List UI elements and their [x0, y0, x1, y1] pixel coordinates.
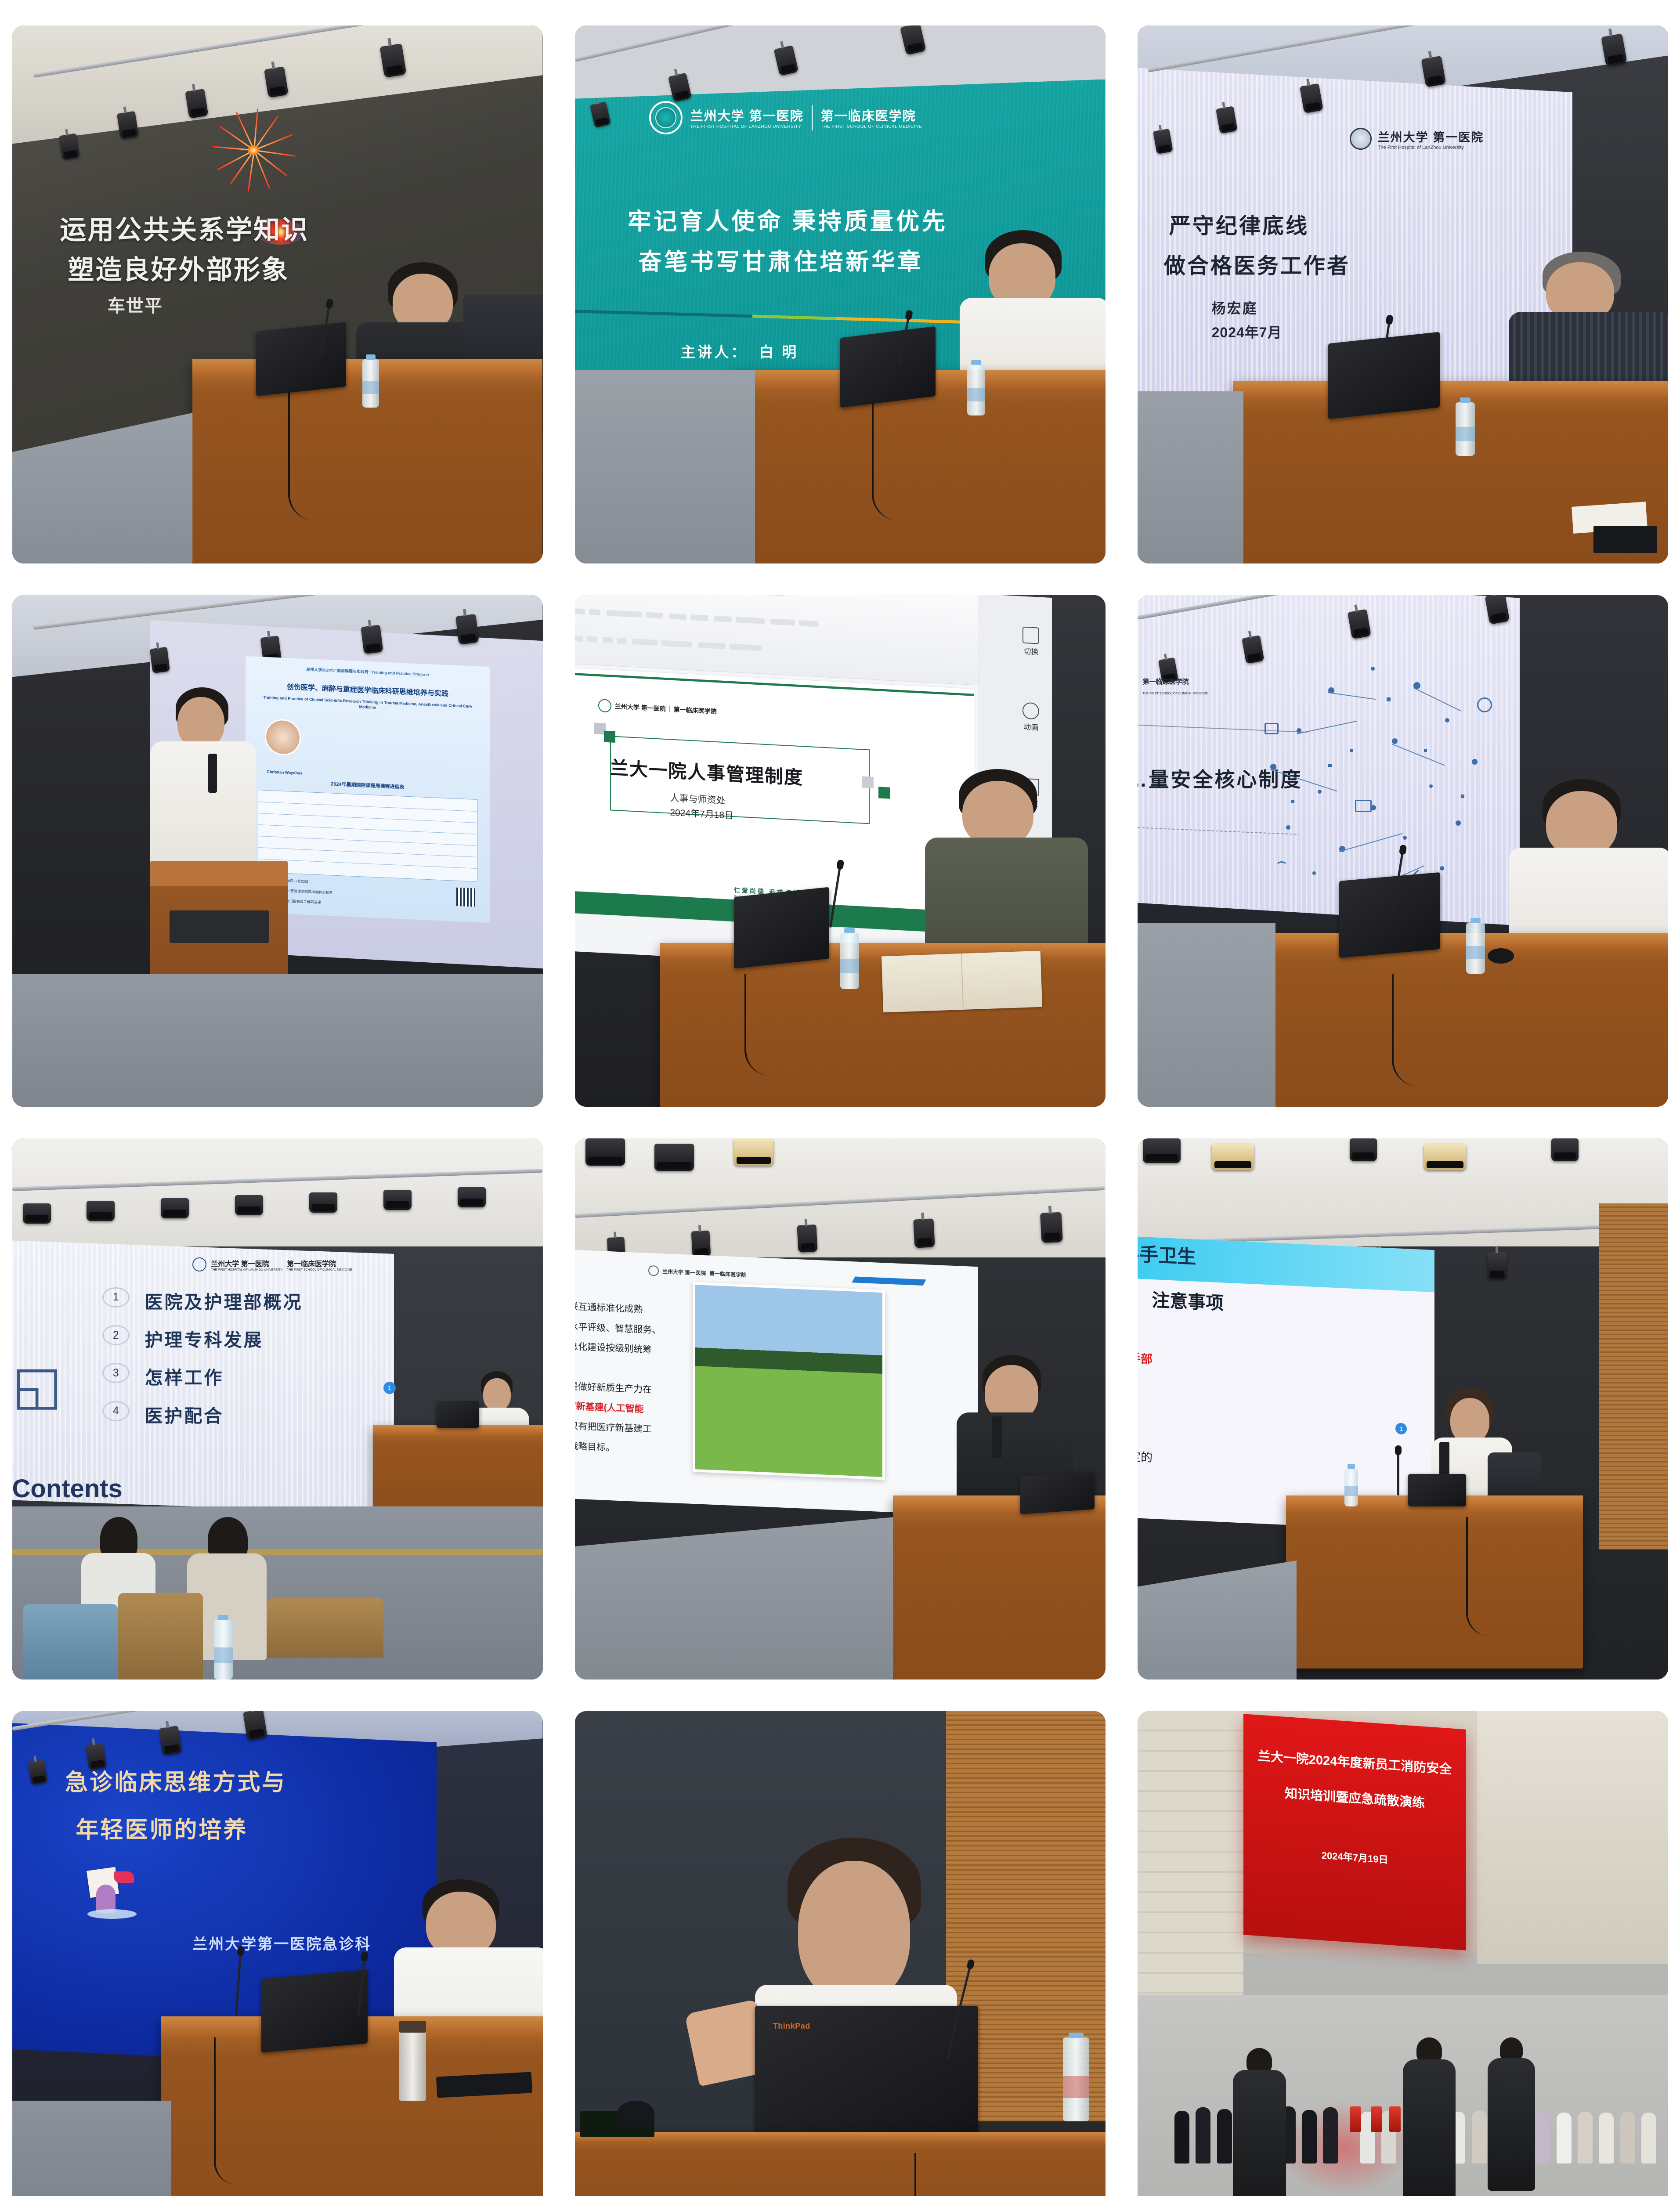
water-bottle: [214, 1620, 233, 1680]
contents-decoration: ◱: [12, 1355, 62, 1416]
stage-light-icon: [1551, 1138, 1579, 1161]
water-bottle: [967, 365, 985, 415]
stage-light-icon: [1143, 1138, 1181, 1163]
water-bottle: [362, 359, 379, 408]
lecture-desk: [575, 2132, 1106, 2196]
slide-org-en: THE FIRST HOSPITAL OF LANZHOU UNIVERSITY: [690, 124, 804, 129]
stage-light-icon: [87, 1201, 115, 1221]
slide-org-cn: 兰州大学 第一医院: [1378, 128, 1484, 145]
stage-light-icon: [797, 1224, 817, 1253]
slide-line-2: …于肘部，使水由手部: [1138, 1344, 1153, 1367]
stage-light-icon: [734, 1138, 773, 1166]
slide-header: 兰州大学 第一医院 THE FIRST HOSPITAL OF LANZHOU …: [649, 101, 922, 134]
upper-wall: [1477, 1711, 1668, 1964]
photo-card-6[interactable]: 第一临床医学院 THE FIRST SCHOOL OF CLINICAL MED…: [1138, 595, 1668, 1107]
laptop: ThinkPad: [755, 2006, 978, 2138]
slide-speaker-label: 主讲人：白 明: [681, 340, 798, 361]
slide-affiliation: 兰州大学第一医院急诊科: [192, 1932, 371, 1954]
stage-light-icon: [28, 1759, 47, 1785]
switch-icon: [1023, 626, 1040, 644]
photo-5-scene: 兰州大学 第一医院 第一临床医学院 兰大一院人事管理制度 人事与师资处 2024…: [575, 595, 1106, 1107]
hospital-seal-icon: [192, 1257, 206, 1271]
slide-line-2: 奋笔书写甘肃住培新华章: [638, 243, 923, 277]
qr-code: [456, 888, 475, 907]
slide-line-4: …核心是做好新质生产力在: [575, 1378, 652, 1396]
stage-light-icon: [691, 1231, 711, 1257]
slide-org-cn: 兰州大学 第一医院: [615, 701, 666, 713]
laptop: [1020, 1471, 1095, 1514]
slide-line-2: 塑造良好外部形象: [68, 249, 289, 287]
auditorium-seat: [118, 1593, 203, 1680]
hospital-seal-icon: [598, 698, 611, 712]
banner-line-2: 知识培训暨应急疏散演练: [1254, 1781, 1455, 1813]
photo-11-scene: ThinkPad: [575, 1711, 1106, 2196]
slide-line-2: …应用水平评级、智慧服务、: [575, 1318, 661, 1336]
stage-light-icon: [585, 1138, 625, 1166]
agenda-item-4: 医护配合: [145, 1401, 224, 1427]
stage-light-icon: [1040, 1212, 1063, 1243]
hospital-seal-icon: [648, 1265, 659, 1276]
cable: [1392, 974, 1420, 1086]
led-banner: 兰大一院2024年度新员工消防安全 知识培训暨应急疏散演练 2024年7月19日: [1243, 1714, 1466, 1950]
cable: [872, 402, 900, 521]
slide-line-6: …作，只有把医疗新基建工: [575, 1418, 652, 1436]
photo-card-7[interactable]: 兰州大学 第一医院 THE FIRST HOSPITAL OF LANZHOU …: [12, 1138, 543, 1680]
guest-name: Christian Waydhas: [260, 769, 309, 776]
mouse: [1488, 948, 1514, 964]
contents-label: Contents: [12, 1474, 123, 1503]
stage-light-icon: [235, 1195, 263, 1215]
slide-embedded-photo: [693, 1282, 885, 1480]
ppt-slide-date: 2024年7月18日: [670, 805, 734, 822]
water-bottle: [1466, 923, 1485, 974]
floor: [1138, 923, 1275, 1107]
star-icon: [1023, 702, 1040, 720]
water-bottle: [1063, 2037, 1089, 2122]
slide-line-1: 急诊临床思维方式与: [65, 1764, 286, 1797]
agenda-number: 3: [102, 1363, 130, 1383]
water-bottle: [1344, 1469, 1358, 1506]
floor: [12, 2101, 171, 2196]
slide-line-7: …上述战略目标。: [575, 1438, 615, 1454]
led-screen: …准预防-手卫生 注意事项 …洁。 …于肘部，使水由手部 …相互揉搓。 …洁双手…: [1138, 1232, 1434, 1531]
fire-extinguisher: [1371, 2106, 1382, 2132]
hospital-seal-icon: [1350, 128, 1372, 150]
stone-wall: [1138, 1711, 1244, 2006]
laptop-brand: ThinkPad: [773, 2022, 810, 2031]
laptop: [1339, 872, 1440, 958]
photo-card-5[interactable]: 兰州大学 第一医院 第一临床医学院 兰大一院人事管理制度 人事与师资处 2024…: [575, 595, 1106, 1107]
photo-card-11[interactable]: ThinkPad: [575, 1711, 1106, 2196]
photo-card-9[interactable]: …准预防-手卫生 注意事项 …洁。 …于肘部，使水由手部 …相互揉搓。 …洁双手…: [1138, 1138, 1668, 1680]
handheld-microphone: [208, 754, 217, 793]
stage-light-icon: [159, 1726, 182, 1755]
firework-graphic: [203, 106, 304, 194]
cable: [914, 2153, 943, 2196]
photo-card-12[interactable]: 兰大一院2024年度新员工消防安全 知识培训暨应急疏散演练 2024年7月19日: [1138, 1711, 1668, 2196]
photo-4-scene: 兰州大学2024年“国际课程与实践周” Training and Practic…: [12, 595, 543, 1107]
slide-title: …量安全核心制度: [1138, 764, 1303, 793]
stage-light-icon: [309, 1192, 337, 1213]
auditorium-desk: [267, 1598, 383, 1658]
laptop: [734, 887, 829, 968]
hospital-seal-icon: [649, 101, 683, 134]
lecture-desk: [1286, 1495, 1583, 1669]
slide-org-cn: 兰州大学 第一医院: [211, 1258, 282, 1268]
slide-number-badge: 1: [1395, 1423, 1407, 1435]
photo-10-scene: 急诊临床思维方式与 年轻医师的培养 兰州大学第一医院急诊科 褚 沛 1: [12, 1711, 543, 2196]
rail-item-animation[interactable]: 动画: [1019, 702, 1044, 733]
water-bottle: [1456, 402, 1474, 456]
instructor-figure: [1233, 2048, 1286, 2196]
agenda-item-1: 医院及护理部概况: [145, 1287, 303, 1314]
cable: [214, 2037, 237, 2185]
stage-light-icon: [458, 1187, 486, 1207]
laptop: [840, 326, 936, 408]
rail-item-switch[interactable]: 切换: [1019, 626, 1044, 657]
stage-light-icon: [161, 1198, 189, 1218]
slide-org-cn: 兰州大学 第一医院: [690, 106, 804, 124]
photo-12-scene: 兰大一院2024年度新员工消防安全 知识培训暨应急疏散演练 2024年7月19日: [1138, 1711, 1668, 2196]
fire-extinguisher: [1350, 2106, 1361, 2132]
stage-light-icon: [1488, 1252, 1507, 1279]
slide-header: 兰州大学 第一医院 The First Hospital of LanZhou …: [1350, 128, 1484, 150]
slide-header: 兰州大学 第一医院 THE FIRST HOSPITAL OF LANZHOU …: [192, 1257, 352, 1271]
divider: [812, 105, 813, 130]
photo-9-scene: …准预防-手卫生 注意事项 …洁。 …于肘部，使水由手部 …相互揉搓。 …洁双手…: [1138, 1138, 1668, 1680]
slide-line-2: 年轻医师的培养: [76, 1811, 248, 1844]
photo-card-2[interactable]: 兰州大学 第一医院 THE FIRST HOSPITAL OF LANZHOU …: [575, 25, 1106, 563]
slide-school-en: THE FIRST SCHOOL OF CLINICAL MEDICINE: [1143, 692, 1208, 695]
water-bottle: [840, 933, 859, 989]
stage-light-icon: [1424, 1144, 1466, 1170]
rail-label: 动画: [1024, 723, 1039, 732]
cartoon-graphic: [87, 1869, 139, 1921]
slide-school-en: THE FIRST SCHOOL OF CLINICAL MEDICINE: [821, 124, 922, 129]
wood-slat-wall: [1599, 1203, 1668, 1549]
slide-line-3: …院信息化建设按级别统筹: [575, 1338, 652, 1356]
rail-label: 切换: [1024, 647, 1039, 656]
slide-logo-row: 兰州大学 第一医院 第一临床医学院: [598, 698, 717, 718]
stage-light-icon: [1212, 1144, 1254, 1170]
slide-line-1: …息互联互通标准化成熟: [575, 1298, 643, 1316]
instructor-figure: [1403, 2037, 1456, 2195]
slide-line-1: 牢记育人使命 秉持质量优先: [628, 203, 948, 236]
photo-2-scene: 兰州大学 第一医院 THE FIRST HOSPITAL OF LANZHOU …: [575, 25, 1106, 563]
lecture-desk: [734, 370, 1106, 563]
phone: [1593, 526, 1657, 553]
poster-program-banner: 兰州大学2024年“国际课程与实践周” Training and Practic…: [255, 665, 480, 680]
agenda-number: 2: [102, 1325, 130, 1345]
cable: [744, 974, 773, 1076]
floor: [1138, 391, 1244, 563]
slide-school-cn: 第一临床医学院: [709, 1269, 746, 1279]
photo-6-scene: 第一临床医学院 THE FIRST SCHOOL OF CLINICAL MED…: [1138, 595, 1668, 1107]
laptop: [1328, 332, 1440, 419]
led-screen: [1138, 595, 1520, 925]
laptop: [1408, 1474, 1467, 1506]
stage-light-icon: [654, 1144, 694, 1171]
ppt-slide-department: 人事与师资处: [670, 791, 726, 807]
monitor-icon: [1265, 723, 1279, 734]
slide-school-cn: 第一临床医学院: [287, 1258, 352, 1268]
floor: [575, 370, 755, 563]
stage-light-icon: [913, 1218, 935, 1248]
slide-school-cn: 第一临床医学院: [1143, 677, 1189, 686]
speaker-label-text: 主讲人：: [681, 344, 748, 360]
wooden-podium: [893, 1495, 1105, 1680]
photo-1-scene: 运用公共关系学知识 塑造良好外部形象 车世平: [12, 25, 543, 563]
slide-school-en: THE FIRST SCHOOL OF CLINICAL MEDICINE: [287, 1268, 352, 1271]
slide-org-en: The First Hospital of LanZhou University: [1378, 145, 1484, 150]
stage-light-icon: [361, 625, 383, 654]
slide-accent-bar: [852, 1277, 926, 1286]
stage-light-icon: [1350, 1138, 1377, 1161]
slide-subtitle: 注意事项: [1152, 1285, 1224, 1315]
slide-line-2: 做合格医务工作者: [1164, 249, 1350, 280]
slide-date: 2024年7月: [1212, 321, 1282, 342]
agenda-item-2: 护理专科发展: [145, 1325, 264, 1351]
photo-gallery: 运用公共关系学知识 塑造良好外部形象 车世平: [0, 0, 1680, 2196]
photo-card-10[interactable]: 急诊临床思维方式与 年轻医师的培养 兰州大学第一医院急诊科 褚 沛 1: [12, 1711, 543, 2196]
led-screen: 兰州大学 第一医院 第一临床医学院 …息互联互通标准化成熟 …应用水平评级、智慧…: [575, 1248, 978, 1516]
slide-line-1: 运用公共关系学知识: [60, 209, 309, 247]
floor: [12, 974, 543, 1107]
slide-school-cn: 第一临床医学院: [821, 106, 922, 124]
slide-org-en: THE FIRST HOSPITAL OF LANZHOU UNIVERSITY: [211, 1268, 282, 1271]
handheld-microphone: [1439, 1442, 1449, 1475]
banner-line-1: 兰大一院2024年度新员工消防安全: [1254, 1745, 1455, 1778]
laptop: [261, 1969, 368, 2052]
slide-presenter-name: 车世平: [108, 292, 163, 317]
envelope-icon: [1355, 800, 1372, 812]
banner-date: 2024年7月19日: [1254, 1843, 1455, 1871]
mouse: [617, 2101, 654, 2127]
glass-tumbler: [399, 2027, 426, 2101]
photo-3-scene: 兰州大学 第一医院 The First Hospital of LanZhou …: [1138, 25, 1668, 563]
slide-presenter-name: 杨宏庭: [1212, 297, 1258, 318]
stage-light-icon: [455, 614, 479, 644]
photo-8-scene: 兰州大学 第一医院 第一临床医学院 …息互联互通标准化成熟 …应用水平评级、智慧…: [575, 1138, 1106, 1680]
stage-light-icon: [383, 1190, 412, 1210]
photo-card-8[interactable]: 兰州大学 第一医院 第一临床医学院 …息互联互通标准化成熟 …应用水平评级、智慧…: [575, 1138, 1106, 1680]
stage-light-icon: [23, 1203, 51, 1224]
cable: [288, 391, 322, 520]
wifi-icon: [1275, 861, 1288, 874]
auditorium-seat: [23, 1604, 118, 1680]
agenda-number: 4: [102, 1401, 130, 1421]
instructor-figure: [1488, 2037, 1535, 2185]
microphone: [1397, 1452, 1399, 1496]
ppt-slide-title: 兰大一院人事管理制度: [610, 753, 803, 790]
guest-portrait: [265, 719, 301, 756]
photo-card-3[interactable]: 兰州大学 第一医院 The First Hospital of LanZhou …: [1138, 25, 1668, 563]
laptop: [256, 322, 346, 396]
photo-card-4[interactable]: 兰州大学2024年“国际课程与实践周” Training and Practic…: [12, 595, 543, 1107]
handheld-microphone: [992, 1416, 1002, 1458]
speaker-name-text: 白 明: [759, 344, 798, 360]
cable: [1466, 1517, 1489, 1636]
course-schedule-table: [258, 790, 477, 882]
stage-light-icon: [150, 647, 170, 673]
slide-line-5: — “医疗新基建(人工智能: [575, 1398, 644, 1416]
fire-extinguisher: [1389, 2106, 1401, 2132]
slide-school-cn: 第一临床医学院: [674, 704, 717, 715]
agenda-item-3: 怎样工作: [145, 1363, 224, 1389]
photo-card-1[interactable]: 运用公共关系学知识 塑造良好外部形象 车世平: [12, 25, 543, 563]
laptop: [437, 1401, 479, 1428]
photo-7-scene: 兰州大学 第一医院 THE FIRST HOSPITAL OF LANZHOU …: [12, 1138, 543, 1680]
slide-line-5: …刷等，应放到指定的: [1138, 1443, 1153, 1465]
agenda-number: 1: [102, 1287, 130, 1307]
slide-header: 兰州大学 第一医院 第一临床医学院: [648, 1265, 746, 1280]
stage-light-icon: [243, 1711, 267, 1741]
slide-org-cn: 兰州大学 第一医院: [662, 1268, 706, 1277]
globe-icon: [1477, 697, 1492, 712]
slide-line-1: 严守纪律底线: [1169, 209, 1309, 240]
open-notebook: [882, 950, 1043, 1012]
